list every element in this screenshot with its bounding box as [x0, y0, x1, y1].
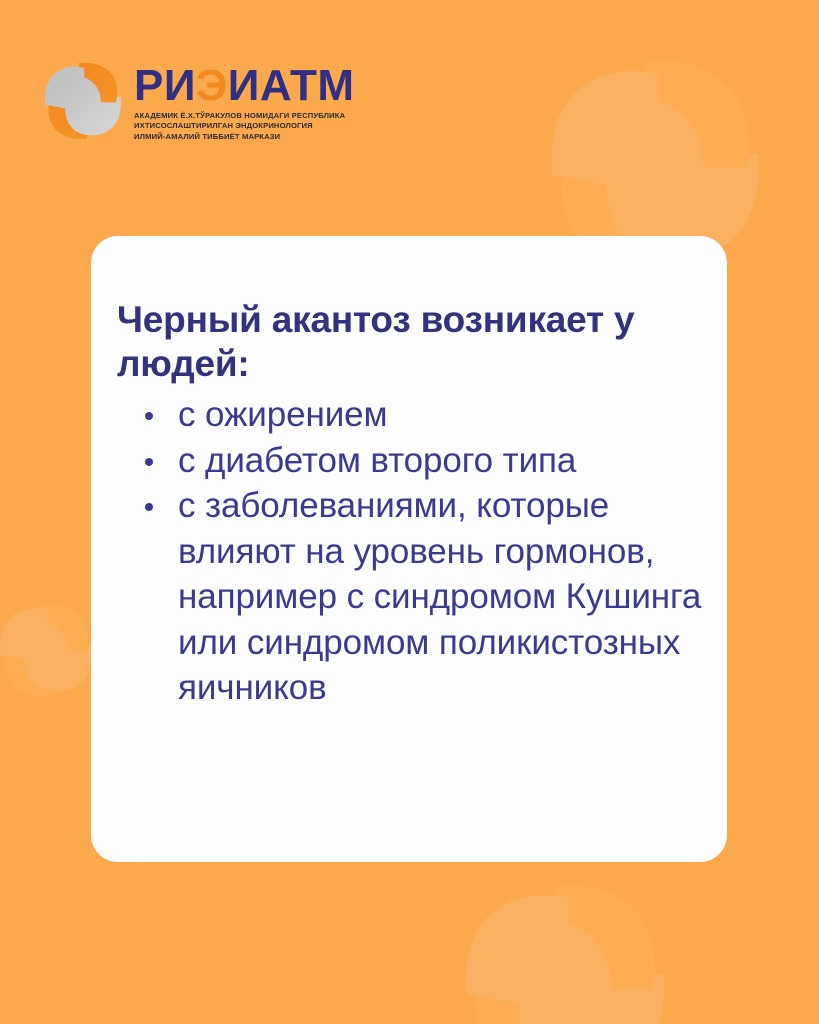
content-card-inner: Черный акантоз возникает у людей: с ожир…	[91, 298, 727, 711]
logo-subtitle-line-2: ИХТИСОСЛАШТИРИЛГАН ЭНДОКРИНОЛОГИЯ	[134, 121, 355, 131]
riematm-x-mark-icon	[40, 58, 126, 144]
bullet-dot-icon	[145, 412, 153, 420]
condition-list: с ожирением с диабетом второго типа с за…	[117, 392, 703, 711]
watermark-x-bottom	[466, 886, 664, 1024]
bullet-dot-icon	[145, 503, 153, 511]
content-card: Черный акантоз возникает у людей: с ожир…	[91, 236, 727, 862]
wordmark-part-3: ИАТМ	[228, 61, 355, 110]
logo-text-block: РИЭИАТМ АКАДЕМИК Ё.Х.ТЎРАКУЛОВ НОМИДАГИ …	[134, 58, 355, 142]
page-title: Черный акантоз возникает у людей:	[117, 298, 703, 386]
slide-canvas: РИЭИАТМ АКАДЕМИК Ё.Х.ТЎРАКУЛОВ НОМИДАГИ …	[0, 0, 819, 1024]
wordmark-part-accent: Э	[196, 61, 228, 110]
list-item: с ожирением	[117, 392, 703, 438]
wordmark-part-1: РИ	[134, 61, 196, 110]
logo-mark-svg	[40, 58, 126, 144]
logo-subtitle-line-1: АКАДЕМИК Ё.Х.ТЎРАКУЛОВ НОМИДАГИ РЕСПУБЛИ…	[134, 111, 355, 121]
watermark-x-left	[0, 604, 92, 696]
list-item-label: с заболеваниями, которые влияют на урове…	[178, 486, 701, 707]
list-item: с заболеваниями, которые влияют на урове…	[117, 483, 703, 711]
logo-subtitle-line-3: ИЛМИЙ-АМАЛИЙ ТИББИЁТ МАРКАЗИ	[134, 132, 355, 142]
list-item-label: с ожирением	[178, 395, 388, 434]
list-item: с диабетом второго типа	[117, 438, 703, 484]
list-item-label: с диабетом второго типа	[178, 441, 576, 480]
brand-header: РИЭИАТМ АКАДЕМИК Ё.Х.ТЎРАКУЛОВ НОМИДАГИ …	[40, 58, 355, 144]
bullet-dot-icon	[145, 458, 153, 466]
logo-wordmark: РИЭИАТМ	[134, 64, 355, 108]
